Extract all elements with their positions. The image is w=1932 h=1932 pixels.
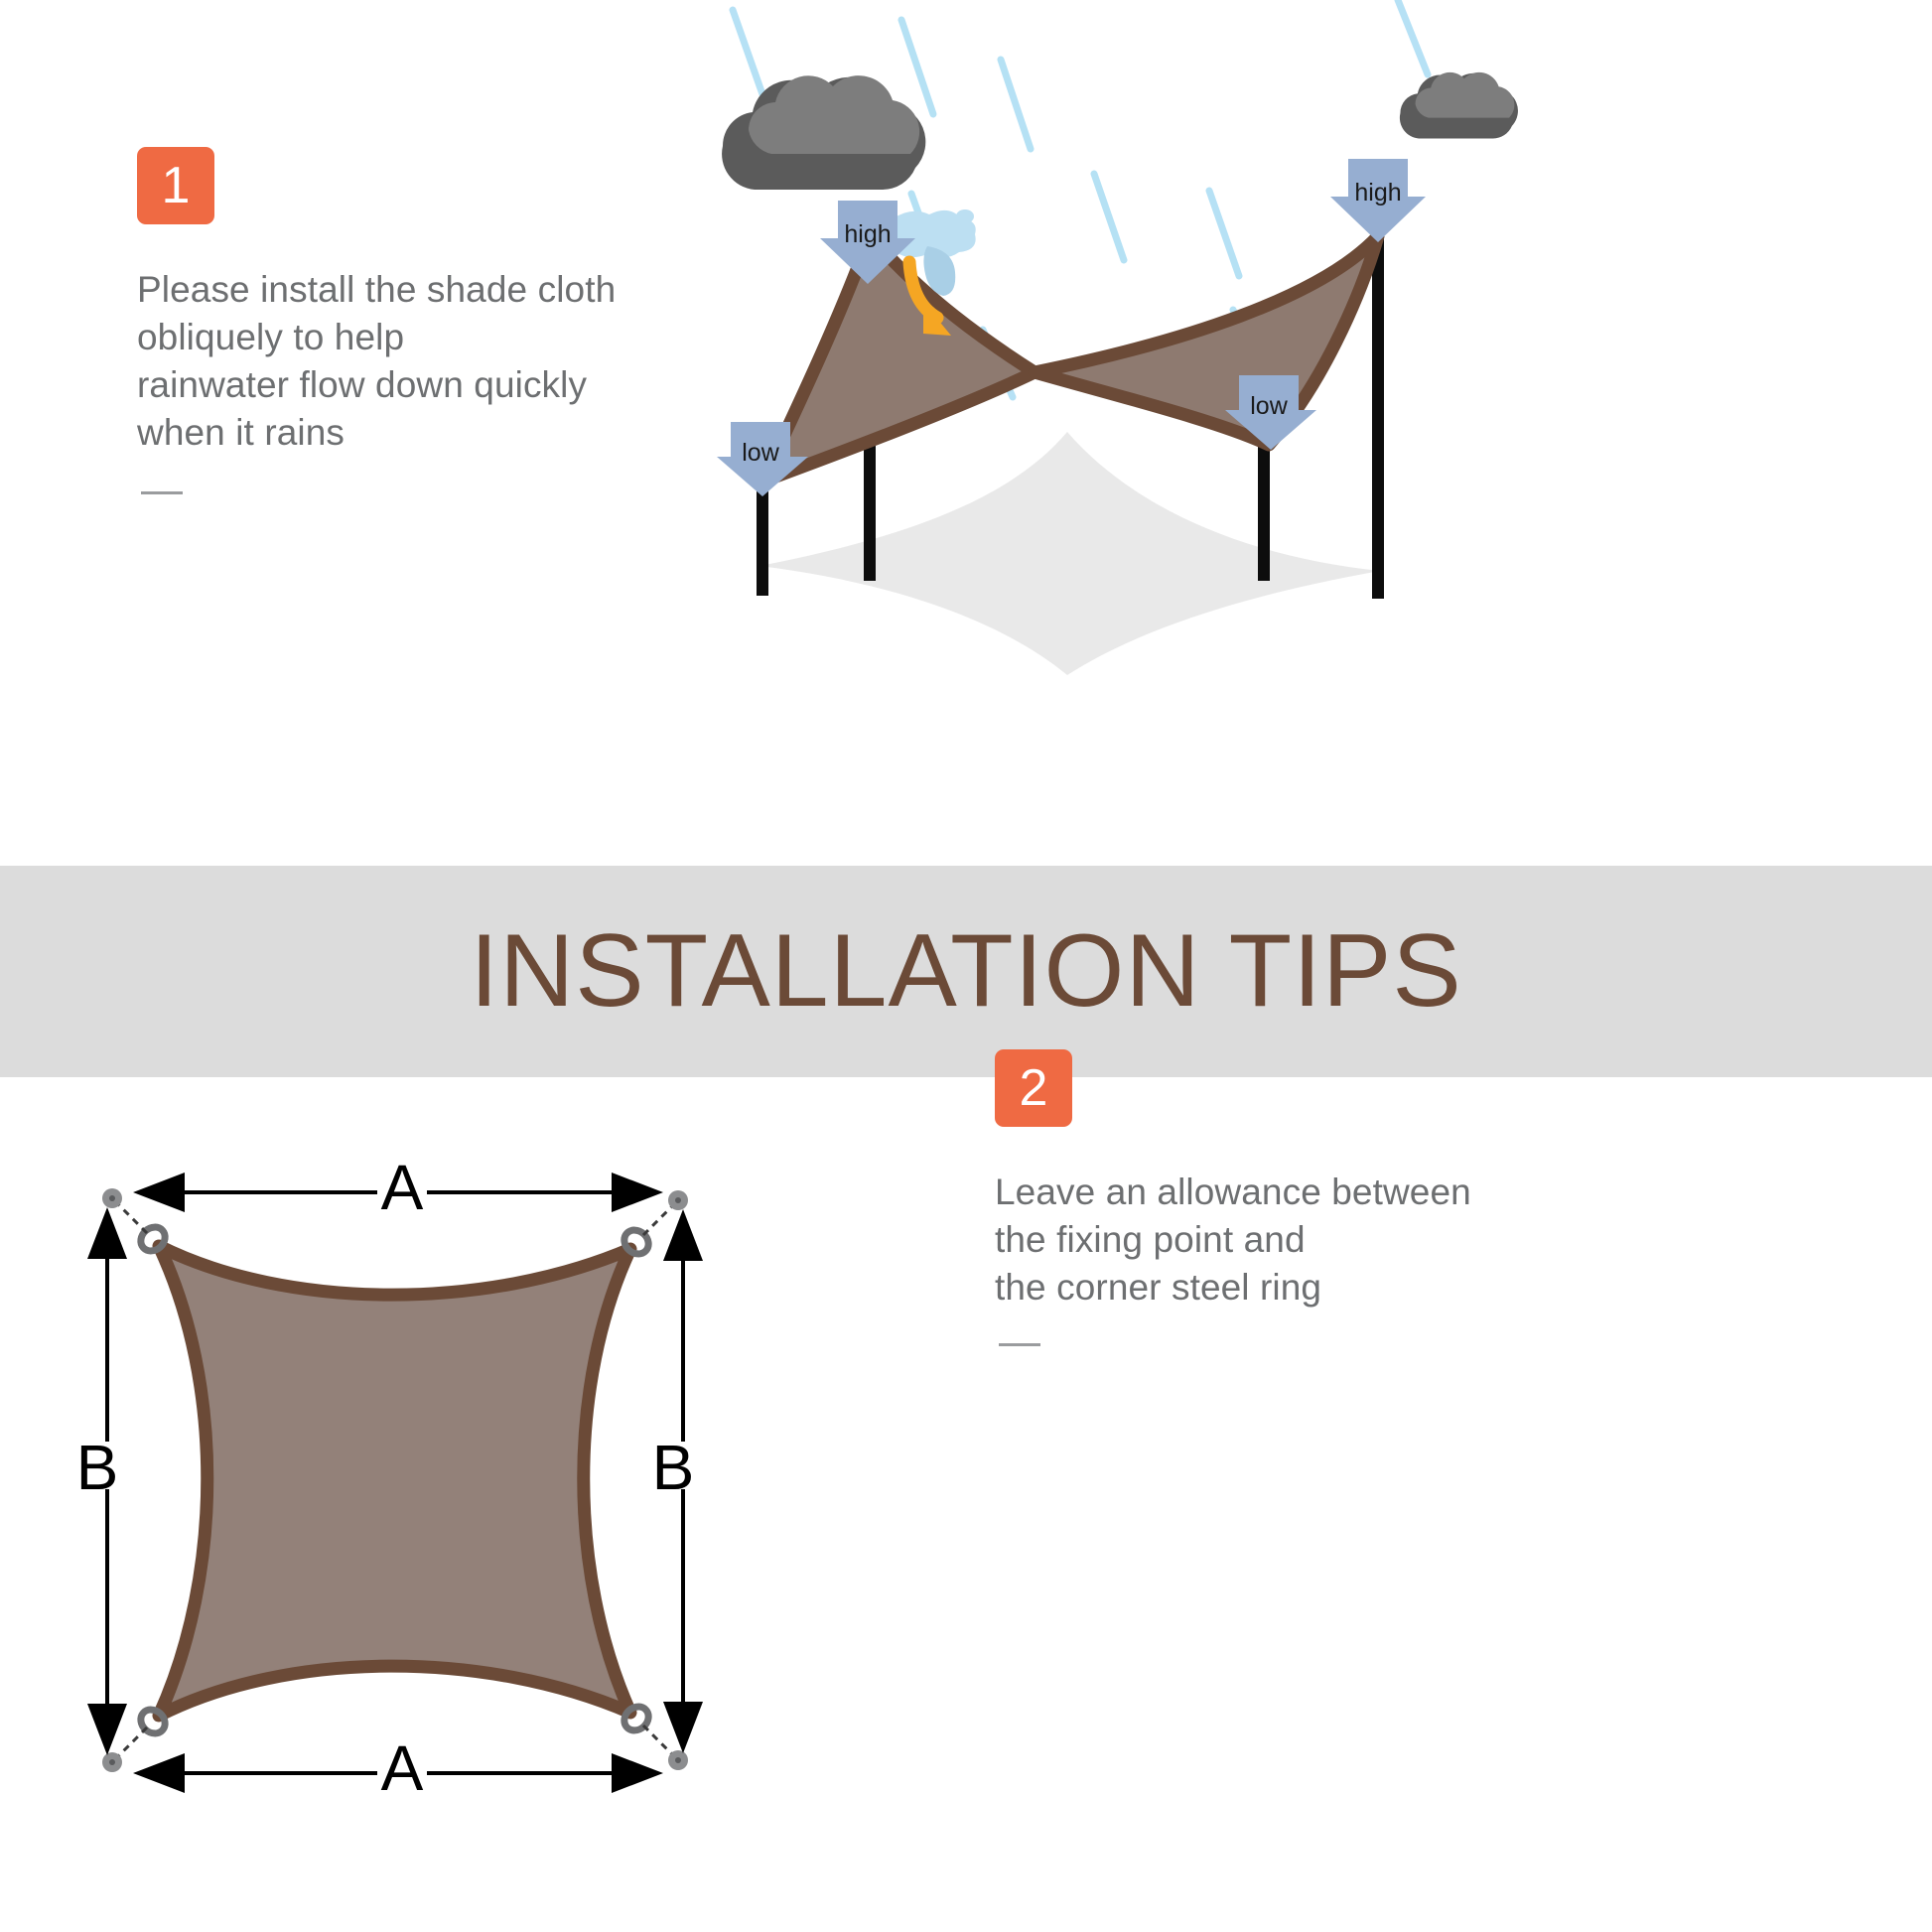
rain-streak bbox=[901, 20, 933, 114]
dimension-b-right: B bbox=[652, 1257, 695, 1706]
step-1-divider bbox=[141, 491, 183, 494]
step-1-badge: 1 bbox=[137, 147, 214, 224]
cloud-icon bbox=[1400, 72, 1518, 139]
corner-arrow-label: high bbox=[1354, 179, 1401, 207]
dimension-label-b: B bbox=[76, 1432, 119, 1503]
rain-streak bbox=[733, 10, 762, 94]
installation-tips-banner: INSTALLATION TIPS bbox=[0, 866, 1932, 1077]
step-2-divider bbox=[999, 1343, 1040, 1346]
puddle-droplet bbox=[956, 209, 974, 223]
dimension-label-a: A bbox=[381, 1152, 424, 1223]
dimension-b-left: B bbox=[76, 1255, 119, 1708]
step-1-description: Please install the shade cloth obliquely… bbox=[137, 266, 653, 457]
corner-arrow-label: low bbox=[1250, 392, 1288, 420]
allowance-connector bbox=[643, 1205, 673, 1235]
shade-sail-rain-illustration: high high low low bbox=[685, 0, 1932, 695]
step-2-badge: 2 bbox=[995, 1049, 1072, 1127]
dimension-label-a: A bbox=[381, 1732, 424, 1804]
corner-arrow-label: low bbox=[742, 439, 779, 467]
banner-title: INSTALLATION TIPS bbox=[470, 912, 1461, 1031]
rain-streak bbox=[1094, 174, 1124, 260]
rain-streak bbox=[1209, 191, 1239, 276]
fixing-point-center bbox=[109, 1195, 115, 1201]
corner-arrow-high-right: high bbox=[1330, 159, 1426, 242]
step-1-number: 1 bbox=[162, 160, 191, 211]
allowance-connector bbox=[117, 1203, 147, 1233]
fixing-point-center bbox=[675, 1197, 681, 1203]
step-2-number: 2 bbox=[1020, 1062, 1048, 1114]
dimension-label-b: B bbox=[652, 1432, 695, 1503]
cloud-icon bbox=[722, 75, 925, 190]
sail-left-lobe bbox=[762, 235, 1035, 482]
allowance-connector bbox=[643, 1725, 673, 1755]
sail-right-lobe bbox=[1035, 236, 1378, 445]
fixing-point-center bbox=[675, 1757, 681, 1763]
dimension-a-bottom: A bbox=[181, 1732, 616, 1804]
corner-arrow-label: high bbox=[844, 220, 891, 248]
rain-streak bbox=[1398, 0, 1428, 74]
pole bbox=[1372, 233, 1384, 599]
fixing-point-center bbox=[109, 1759, 115, 1765]
rain-streak bbox=[1001, 60, 1031, 149]
square-sail-dimensions-illustration: A A B B bbox=[60, 1122, 874, 1932]
step-2-description: Leave an allowance between the fixing po… bbox=[995, 1169, 1551, 1311]
ground-shadow-shape bbox=[759, 432, 1380, 675]
allowance-connector bbox=[117, 1727, 147, 1757]
dimension-a-top: A bbox=[181, 1152, 616, 1223]
square-sail-shape bbox=[159, 1246, 630, 1716]
